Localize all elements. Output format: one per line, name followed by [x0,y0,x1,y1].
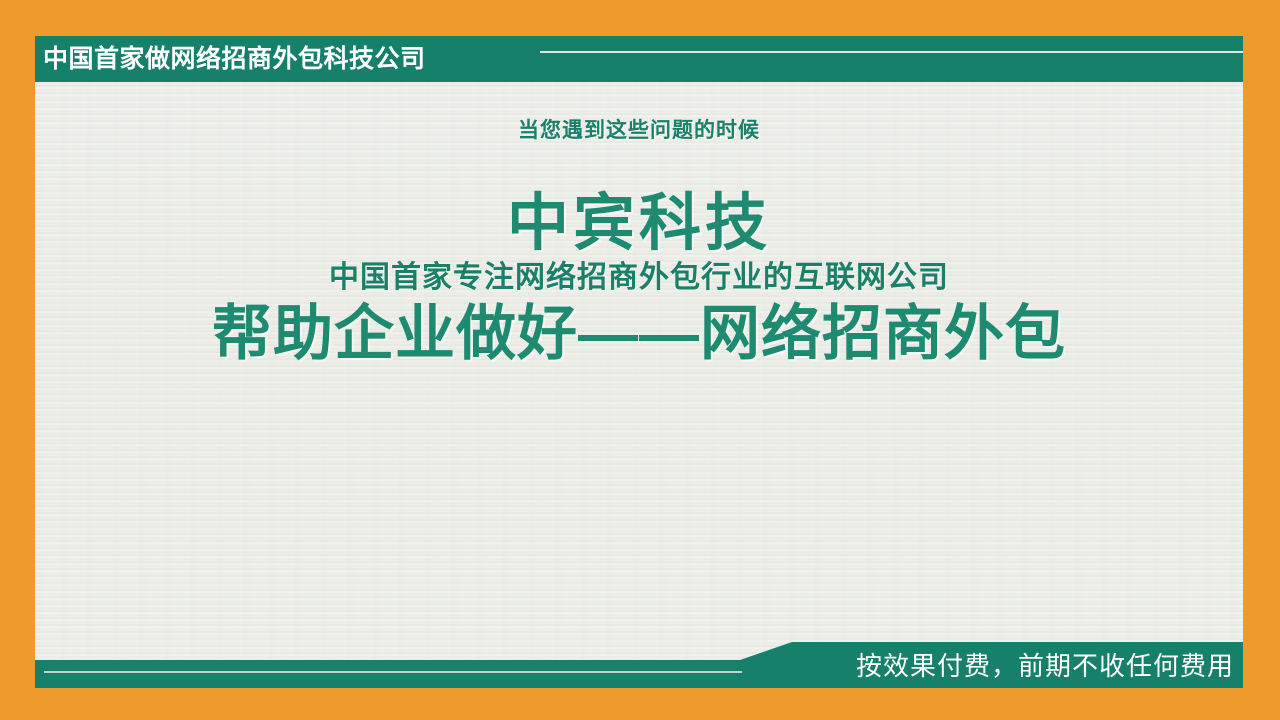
tagline-text: 中国首家专注网络招商外包行业的互联网公司 [35,261,1243,296]
header-accent-line [540,51,1243,53]
footer-tagline: 按效果付费，前期不收任何费用 [856,650,1234,682]
eyebrow-text: 当您遇到这些问题的时候 [35,120,1243,141]
slide-body: 当您遇到这些问题的时候 中宾科技 中国首家专注网络招商外包行业的互联网公司 帮助… [35,120,1243,366]
brand-title: 中宾科技 [35,193,1243,255]
presentation-slide: 中国首家做网络招商外包科技公司 当您遇到这些问题的时候 中宾科技 中国首家专注网… [0,0,1280,720]
headline-text: 帮助企业做好——网络招商外包 [35,302,1243,367]
footer-accent-line [44,671,742,673]
header-title: 中国首家做网络招商外包科技公司 [43,43,513,75]
